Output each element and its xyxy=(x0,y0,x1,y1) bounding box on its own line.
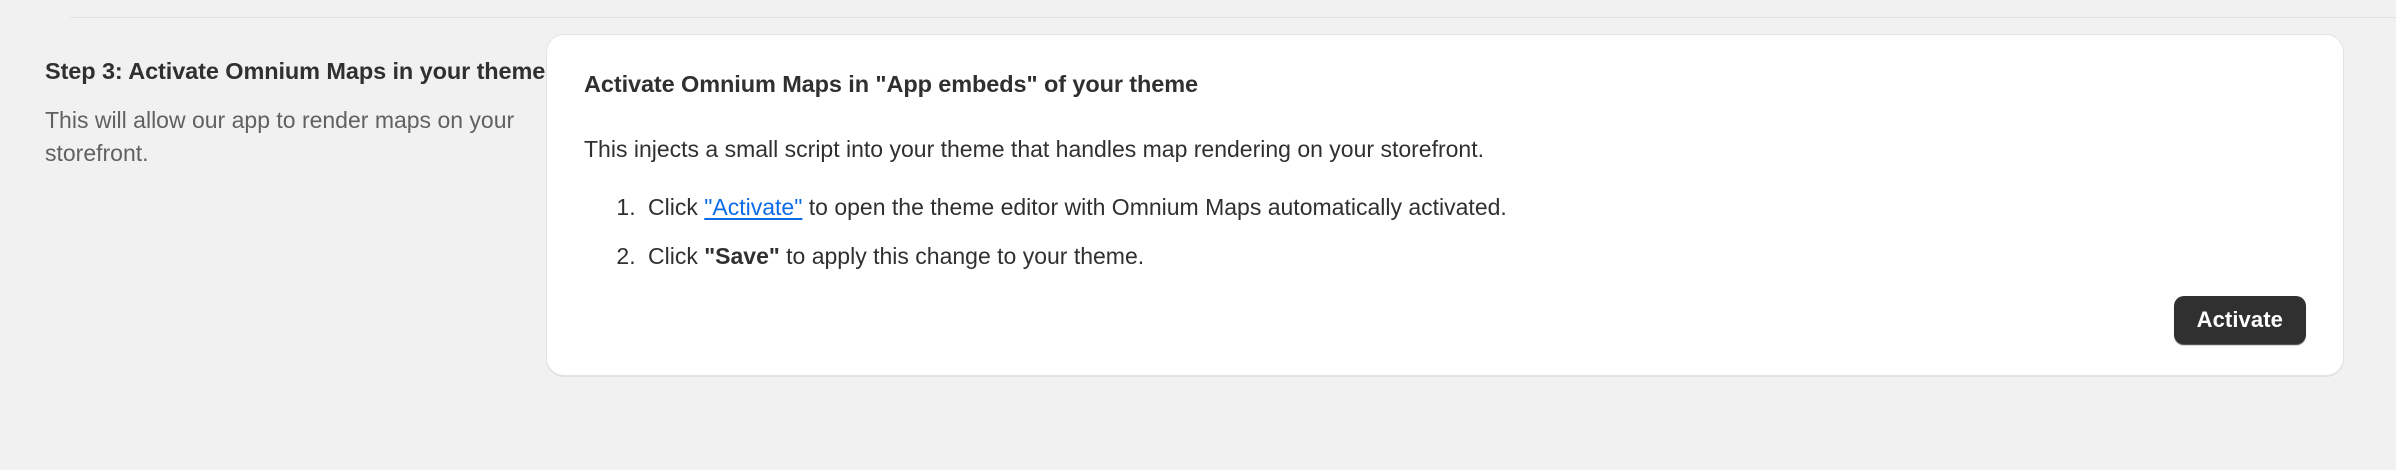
settings-section: Step 3: Activate Omnium Maps in your the… xyxy=(0,34,2396,376)
list-item: Click "Activate" to open the theme edito… xyxy=(642,191,2306,224)
card-title: Activate Omnium Maps in "App embeds" of … xyxy=(584,69,2306,100)
save-emphasis: "Save" xyxy=(704,243,780,269)
step-description: This will allow our app to render maps o… xyxy=(45,104,546,171)
activate-card: Activate Omnium Maps in "App embeds" of … xyxy=(546,34,2344,376)
activate-link[interactable]: "Activate" xyxy=(704,194,802,220)
step-1-suffix: to open the theme editor with Omnium Map… xyxy=(802,194,1506,220)
step-2-prefix: Click xyxy=(648,243,704,269)
card-actions: Activate xyxy=(584,296,2306,345)
list-item: Click "Save" to apply this change to you… xyxy=(642,240,2306,273)
section-content-column: Activate Omnium Maps in "App embeds" of … xyxy=(546,34,2396,376)
activate-button[interactable]: Activate xyxy=(2174,296,2306,345)
step-1-prefix: Click xyxy=(648,194,704,220)
step-2-suffix: to apply this change to your theme. xyxy=(780,243,1144,269)
card-intro-text: This injects a small script into your th… xyxy=(584,133,2306,166)
page-root: Step 3: Activate Omnium Maps in your the… xyxy=(0,0,2396,470)
step-title: Step 3: Activate Omnium Maps in your the… xyxy=(45,56,546,87)
section-description-column: Step 3: Activate Omnium Maps in your the… xyxy=(0,34,546,170)
section-divider xyxy=(70,17,2396,18)
instruction-list: Click "Activate" to open the theme edito… xyxy=(584,191,2306,274)
